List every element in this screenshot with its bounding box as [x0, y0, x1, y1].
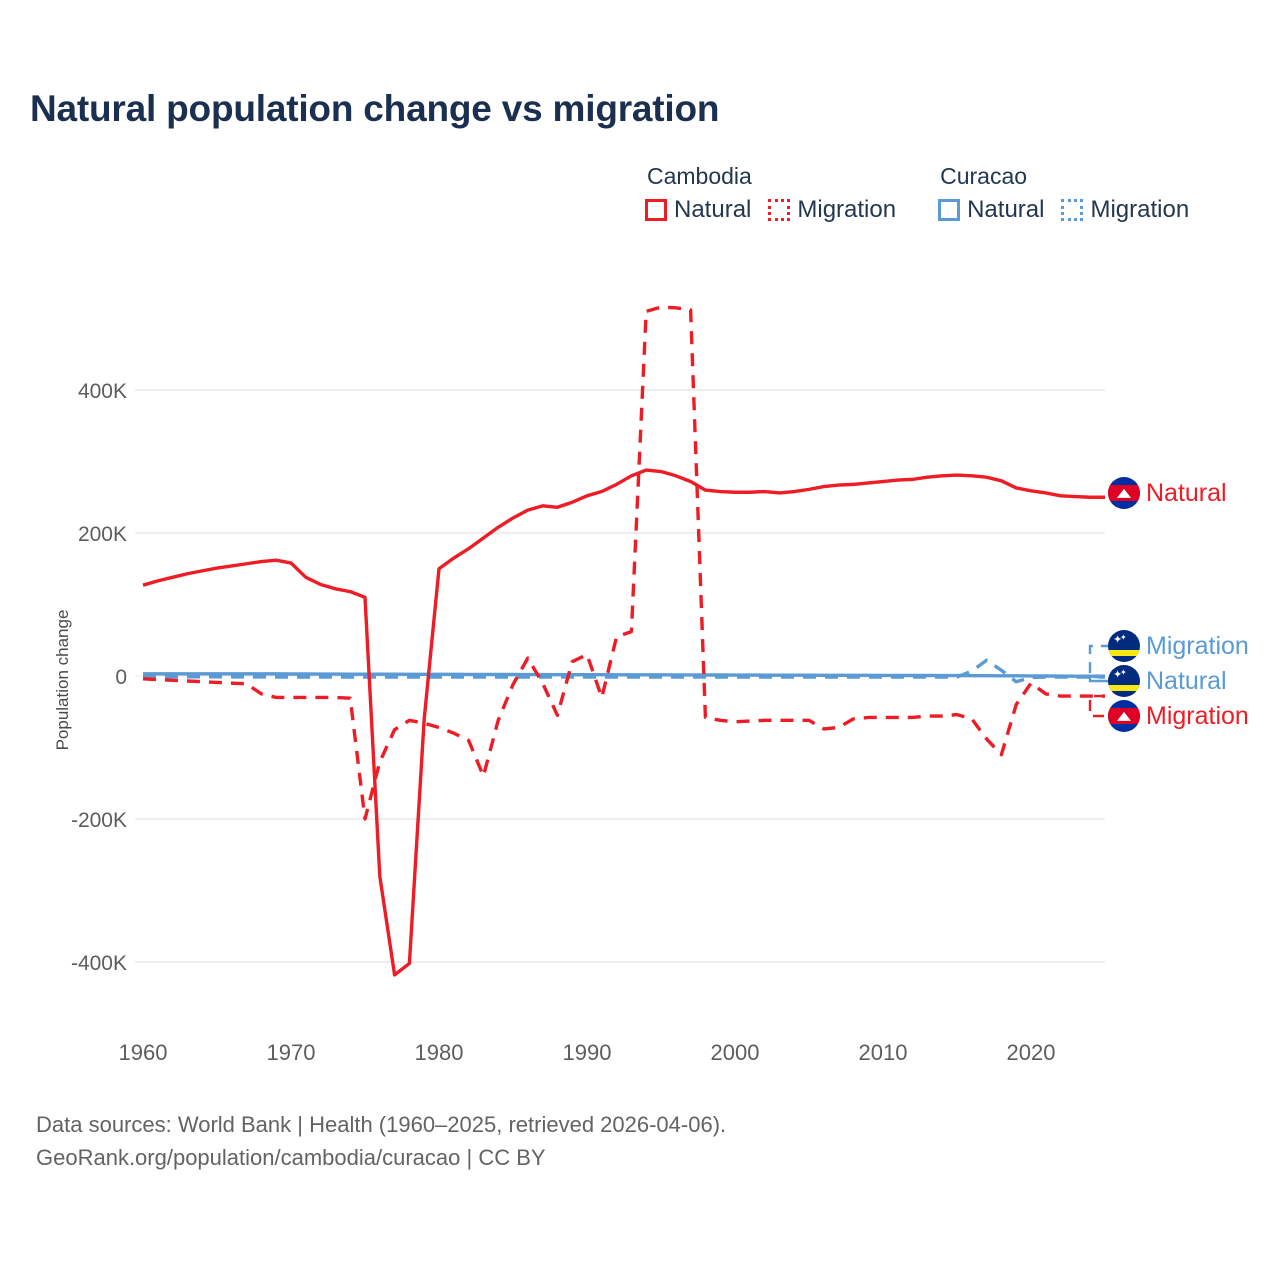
cambodia-flag-icon	[1108, 477, 1140, 509]
svg-text:1980: 1980	[415, 1040, 464, 1065]
end-label-curacao-natural[interactable]: ✦✦Natural	[1108, 665, 1227, 697]
end-label-cambodia-migration[interactable]: Migration	[1108, 700, 1249, 732]
svg-text:400K: 400K	[78, 380, 127, 403]
end-label-text: Migration	[1146, 632, 1249, 661]
label-connector-lines	[1090, 646, 1108, 716]
y-axis-tick-labels: -400K-200K0200K400K	[71, 380, 127, 975]
curacao-flag-icon: ✦✦	[1108, 665, 1140, 697]
label-connector	[1090, 696, 1108, 716]
svg-text:2000: 2000	[711, 1040, 760, 1065]
data-series-lines	[143, 307, 1105, 975]
chart-svg: -400K-200K0200K400K 19601970198019902000…	[0, 0, 1280, 1280]
end-label-curacao-migration[interactable]: ✦✦Migration	[1108, 630, 1249, 662]
chart-plot-area: -400K-200K0200K400K 19601970198019902000…	[0, 0, 1280, 1280]
footer-line-1: Data sources: World Bank | Health (1960–…	[36, 1108, 726, 1141]
end-label-text: Natural	[1146, 667, 1227, 696]
svg-text:2010: 2010	[859, 1040, 908, 1065]
cambodia-flag-icon	[1108, 700, 1140, 732]
y-axis-title: Population change	[53, 610, 72, 751]
svg-text:1960: 1960	[119, 1040, 168, 1065]
svg-text:1970: 1970	[267, 1040, 316, 1065]
svg-text:200K: 200K	[78, 523, 127, 546]
x-axis-tick-labels: 1960197019801990200020102020	[119, 1040, 1056, 1065]
svg-text:2020: 2020	[1007, 1040, 1056, 1065]
label-connector	[1090, 646, 1108, 677]
curacao-flag-icon: ✦✦	[1108, 630, 1140, 662]
series-line-curacao-migration	[143, 660, 1105, 681]
end-label-cambodia-natural[interactable]: Natural	[1108, 477, 1227, 509]
end-label-text: Migration	[1146, 702, 1249, 731]
footer-line-2: GeoRank.org/population/cambodia/curacao …	[36, 1141, 726, 1174]
svg-text:1990: 1990	[563, 1040, 612, 1065]
series-line-cambodia-natural	[143, 470, 1105, 975]
svg-text:-200K: -200K	[71, 809, 127, 832]
svg-text:0: 0	[115, 666, 127, 689]
footer-sources: Data sources: World Bank | Health (1960–…	[36, 1108, 726, 1175]
svg-text:-400K: -400K	[71, 952, 127, 975]
end-label-text: Natural	[1146, 479, 1227, 508]
